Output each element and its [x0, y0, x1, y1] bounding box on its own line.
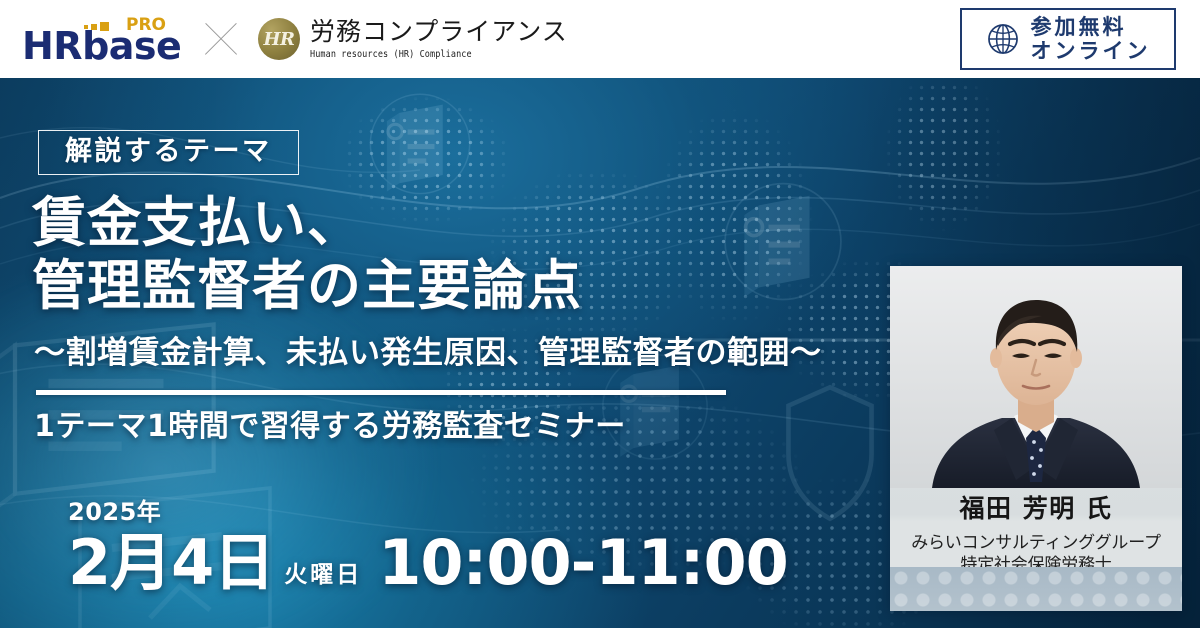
- x-cross-icon: [194, 16, 248, 62]
- schedule-block: 2025年 2月4日 火曜日 10:00-11:00: [68, 500, 788, 594]
- speaker-photo: [890, 266, 1182, 488]
- compliance-text-block: 労務コンプライアンス Human resources (HR) Complian…: [310, 19, 568, 58]
- banner-tagline: 1テーマ1時間で習得する労務監査セミナー: [34, 412, 626, 442]
- speaker-card-footer: [890, 567, 1182, 611]
- hr-mark-text: HR: [264, 29, 295, 50]
- banner-subheadline: 〜割増賃金計算、未払い発生原因、管理監督者の範囲〜: [34, 338, 822, 369]
- banner-content: 解説するテーマ 賃金支払い、 管理監督者の主要論点 〜割増賃金計算、未払い発生原…: [0, 78, 1200, 628]
- theme-label-text: 解説するテーマ: [65, 136, 272, 167]
- theme-label-box: 解説するテーマ: [38, 130, 299, 175]
- banner-header: PRO HRbase HR 労務コンプライアンス Human resources…: [0, 0, 1200, 78]
- schedule-month-day: 2月4日: [68, 532, 274, 594]
- badge-line-online: オンライン: [1031, 39, 1151, 63]
- compliance-subtitle-en: Human resources (HR) Compliance: [310, 49, 568, 61]
- badge-text-block: 参加無料 オンライン: [1031, 15, 1151, 64]
- roumu-compliance-logo: HR 労務コンプライアンス Human resources (HR) Compl…: [258, 18, 568, 60]
- webinar-banner: PRO HRbase HR 労務コンプライアンス Human resources…: [0, 0, 1200, 628]
- compliance-title-jp: 労務コンプライアンス: [310, 19, 568, 45]
- speaker-card: 福田 芳明 氏 みらいコンサルティンググループ 特定社会保険労務士: [890, 266, 1182, 611]
- schedule-year: 2025年: [68, 500, 788, 524]
- badge-line-free: 参加無料: [1031, 15, 1151, 39]
- schedule-main-row: 2月4日 火曜日 10:00-11:00: [68, 532, 788, 594]
- hrbase-pro-logo: PRO HRbase: [22, 11, 182, 67]
- globe-icon: [986, 22, 1020, 56]
- hrbase-wordmark: HRbase: [22, 27, 181, 65]
- speaker-portrait-illustration: [890, 266, 1182, 488]
- schedule-time: 10:00-11:00: [378, 532, 787, 594]
- free-online-badge: 参加無料 オンライン: [960, 8, 1176, 70]
- banner-headline: 賃金支払い、 管理監督者の主要論点: [32, 192, 582, 317]
- schedule-weekday: 火曜日: [284, 564, 362, 594]
- speaker-name: 福田 芳明 氏: [890, 496, 1182, 521]
- hr-circle-icon: HR: [258, 18, 300, 60]
- horizontal-divider: [36, 390, 726, 395]
